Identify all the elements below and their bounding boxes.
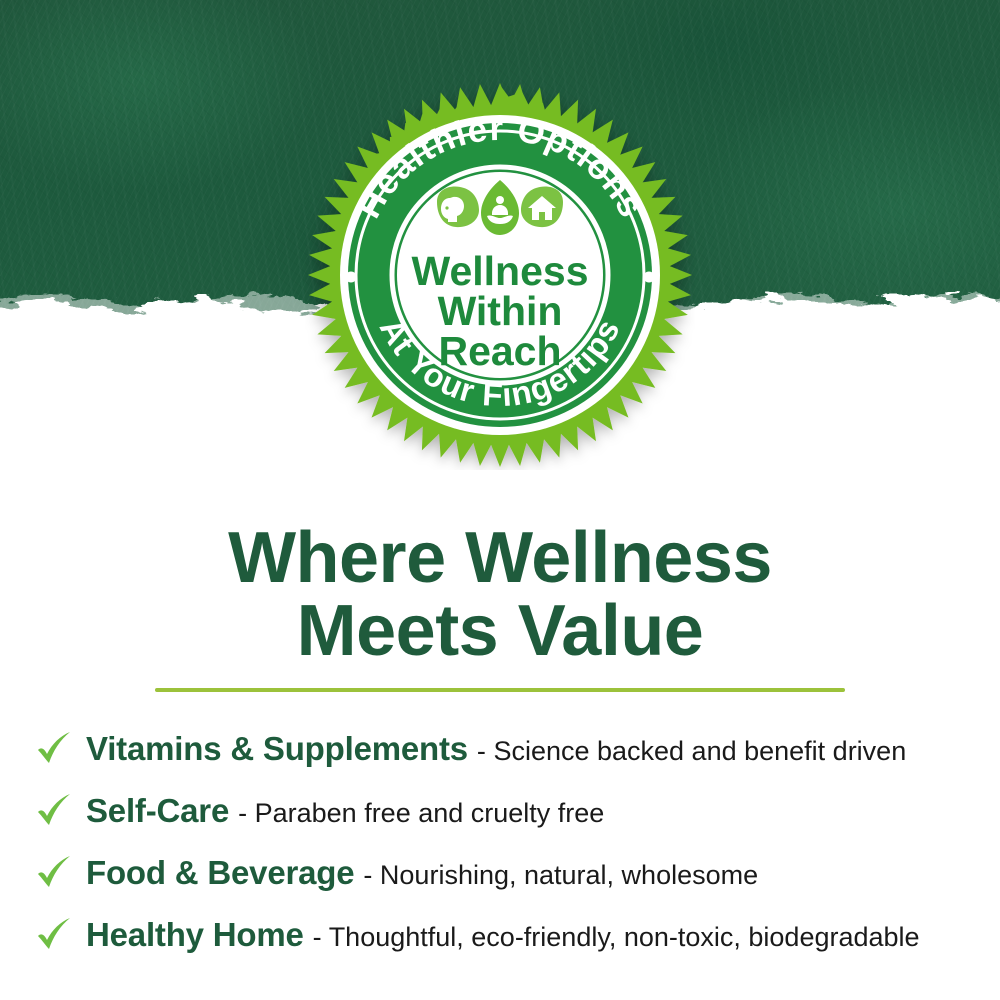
badge-separator-dot-right (644, 272, 655, 283)
headline-line-2: Meets Value (0, 595, 1000, 668)
page-headline: Where Wellness Meets Value (0, 522, 1000, 669)
feature-description: - Science backed and benefit driven (477, 736, 906, 767)
feature-title: Healthy Home (86, 916, 304, 954)
feature-description: - Nourishing, natural, wholesome (363, 860, 758, 891)
promo-page: Healthier Options At Your Fingertips (0, 0, 1000, 1000)
feature-description: - Thoughtful, eco-friendly, non-toxic, b… (313, 922, 920, 953)
badge-icon-trio (437, 180, 563, 235)
feature-description: - Paraben free and cruelty free (238, 798, 604, 829)
badge-separator-dot-left (346, 272, 357, 283)
badge-center-line-3: Reach (438, 328, 561, 374)
headline-line-1: Where Wellness (0, 522, 1000, 595)
list-item: Healthy Home - Thoughtful, eco-friendly,… (0, 904, 1000, 966)
feature-title: Food & Beverage (86, 854, 354, 892)
check-icon (34, 853, 74, 893)
check-icon (34, 729, 74, 769)
badge-graphic: Healthier Options At Your Fingertips (305, 80, 695, 470)
check-icon (34, 915, 74, 955)
check-icon (34, 791, 74, 831)
list-item: Food & Beverage - Nourishing, natural, w… (0, 842, 1000, 904)
wellness-badge: Healthier Options At Your Fingertips (305, 80, 695, 470)
feature-text: Self-Care - Paraben free and cruelty fre… (86, 792, 604, 830)
list-item: Self-Care - Paraben free and cruelty fre… (0, 780, 1000, 842)
feature-title: Vitamins & Supplements (86, 730, 468, 768)
feature-title: Self-Care (86, 792, 229, 830)
headline-divider (155, 688, 845, 692)
feature-list: Vitamins & Supplements - Science backed … (0, 718, 1000, 966)
feature-text: Healthy Home - Thoughtful, eco-friendly,… (86, 916, 920, 954)
list-item: Vitamins & Supplements - Science backed … (0, 718, 1000, 780)
feature-text: Food & Beverage - Nourishing, natural, w… (86, 854, 758, 892)
feature-text: Vitamins & Supplements - Science backed … (86, 730, 906, 768)
